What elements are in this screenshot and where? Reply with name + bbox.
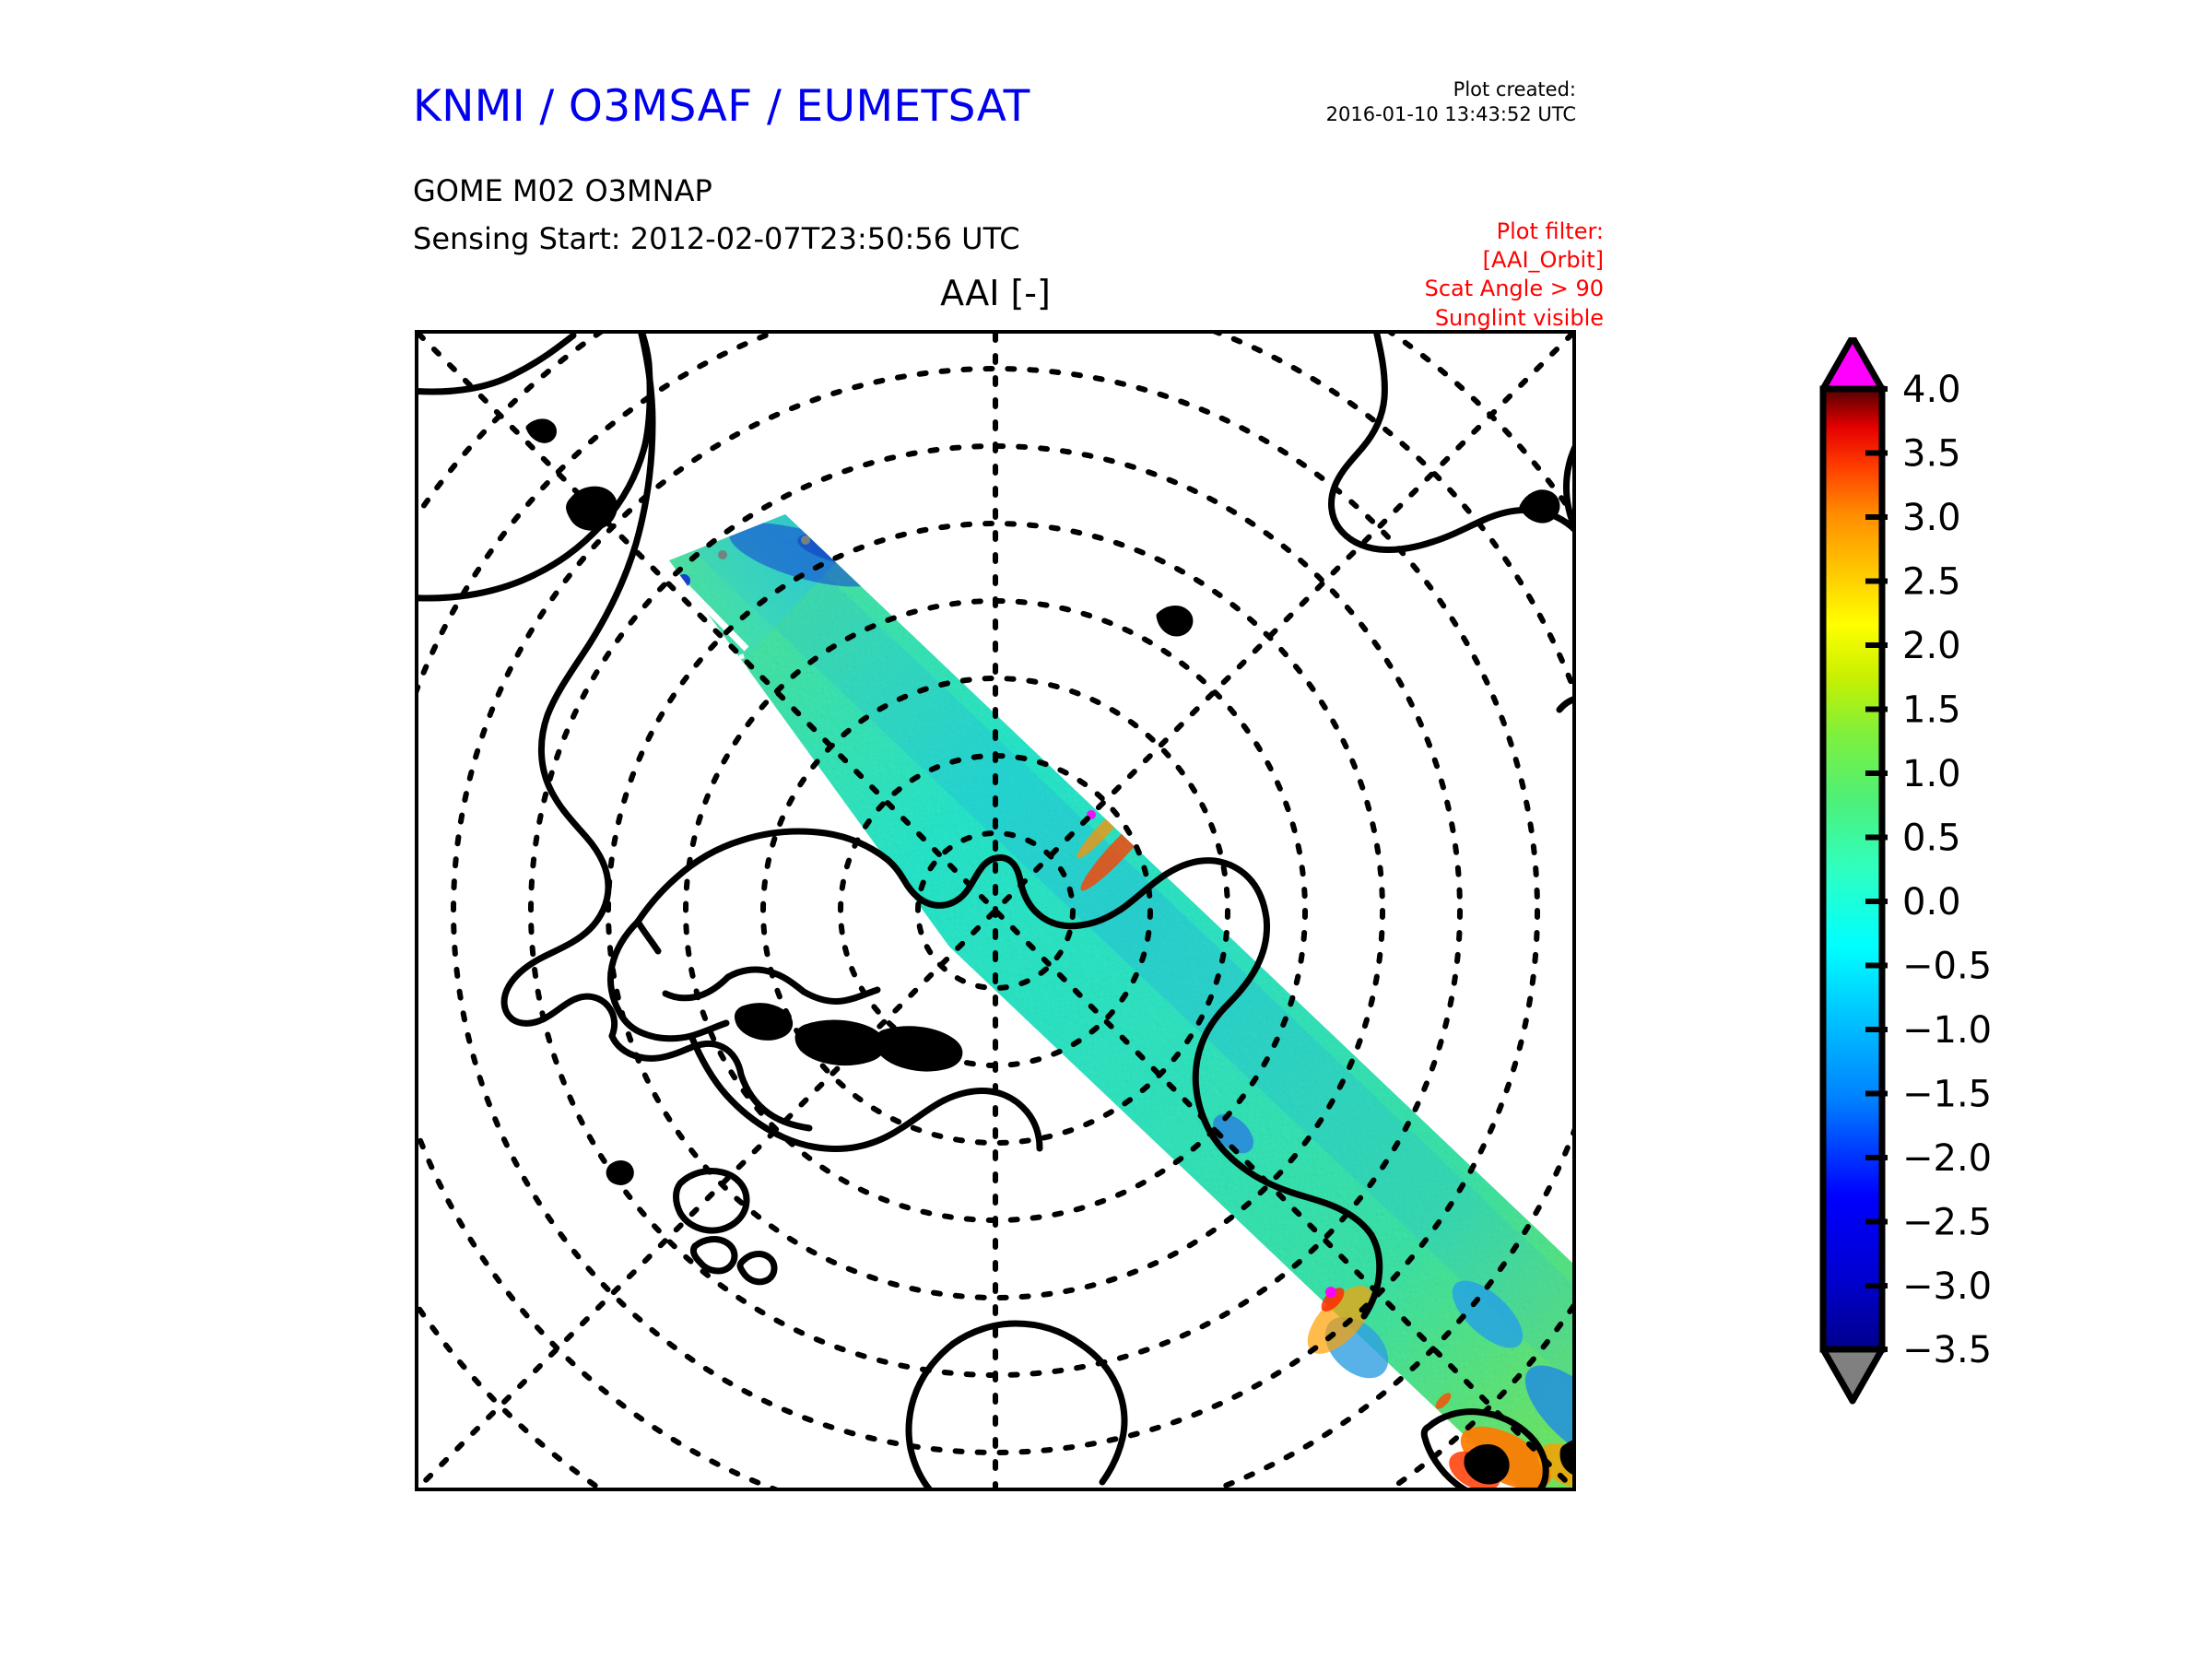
plot-created-timestamp: 2016-01-10 13:43:52 UTC: [1318, 102, 1576, 127]
plot-filter-product: [AAI_Orbit]: [1327, 246, 1604, 275]
plot-created-label: Plot created:: [1318, 77, 1576, 102]
colorbar-under-arrow: [1823, 1349, 1882, 1401]
organisation-title: KNMI / O3MSAF / EUMETSAT: [413, 81, 1030, 132]
colorbar-tick-label: −1.0: [1902, 1009, 1992, 1052]
plot-created-block: Plot created: 2016-01-10 13:43:52 UTC: [1318, 77, 1576, 127]
colorbar-tick-label: 3.0: [1902, 497, 1961, 539]
colorbar-over-arrow: [1823, 337, 1882, 389]
map-plot-area: [415, 330, 1576, 1491]
dataset-name: GOME M02 O3MNAP: [413, 173, 712, 208]
colorbar-tick-labels: 4.0 3.5 3.0 2.5 2.0 1.5 1.0 0.5 0.0 −0.5…: [1902, 369, 1992, 1371]
colorbar-tick-label: −2.5: [1902, 1202, 1992, 1244]
colorbar-tick-label: −3.0: [1902, 1265, 1992, 1308]
colorbar-tick-label: 0.0: [1902, 881, 1961, 924]
colorbar-tick-label: 3.5: [1902, 433, 1961, 476]
colorbar: 4.0 3.5 3.0 2.5 2.0 1.5 1.0 0.5 0.0 −0.5…: [1799, 337, 2186, 1471]
colorbar-tick-label: 2.5: [1902, 561, 1961, 604]
colorbar-gradient: [1823, 389, 1882, 1349]
polar-stereographic-map: [418, 334, 1572, 1488]
colorbar-tick-label: −3.5: [1902, 1329, 1992, 1371]
colorbar-tick-label: −0.5: [1902, 946, 1992, 988]
colorbar-tick-label: 1.5: [1902, 689, 1961, 732]
colorbar-tick-label: −1.5: [1902, 1074, 1992, 1116]
plot-filter-label: Plot filter:: [1327, 218, 1604, 246]
plot-title: AAI [-]: [415, 273, 1576, 313]
colorbar-tick-label: 1.0: [1902, 753, 1961, 795]
colorbar-tick-label: −2.0: [1902, 1137, 1992, 1180]
colorbar-tick-label: 0.5: [1902, 818, 1961, 860]
colorbar-svg: 4.0 3.5 3.0 2.5 2.0 1.5 1.0 0.5 0.0 −0.5…: [1799, 337, 2186, 1471]
colorbar-tick-label: 4.0: [1902, 369, 1961, 411]
colorbar-tick-label: 2.0: [1902, 625, 1961, 667]
sensing-start: Sensing Start: 2012-02-07T23:50:56 UTC: [413, 221, 1020, 256]
